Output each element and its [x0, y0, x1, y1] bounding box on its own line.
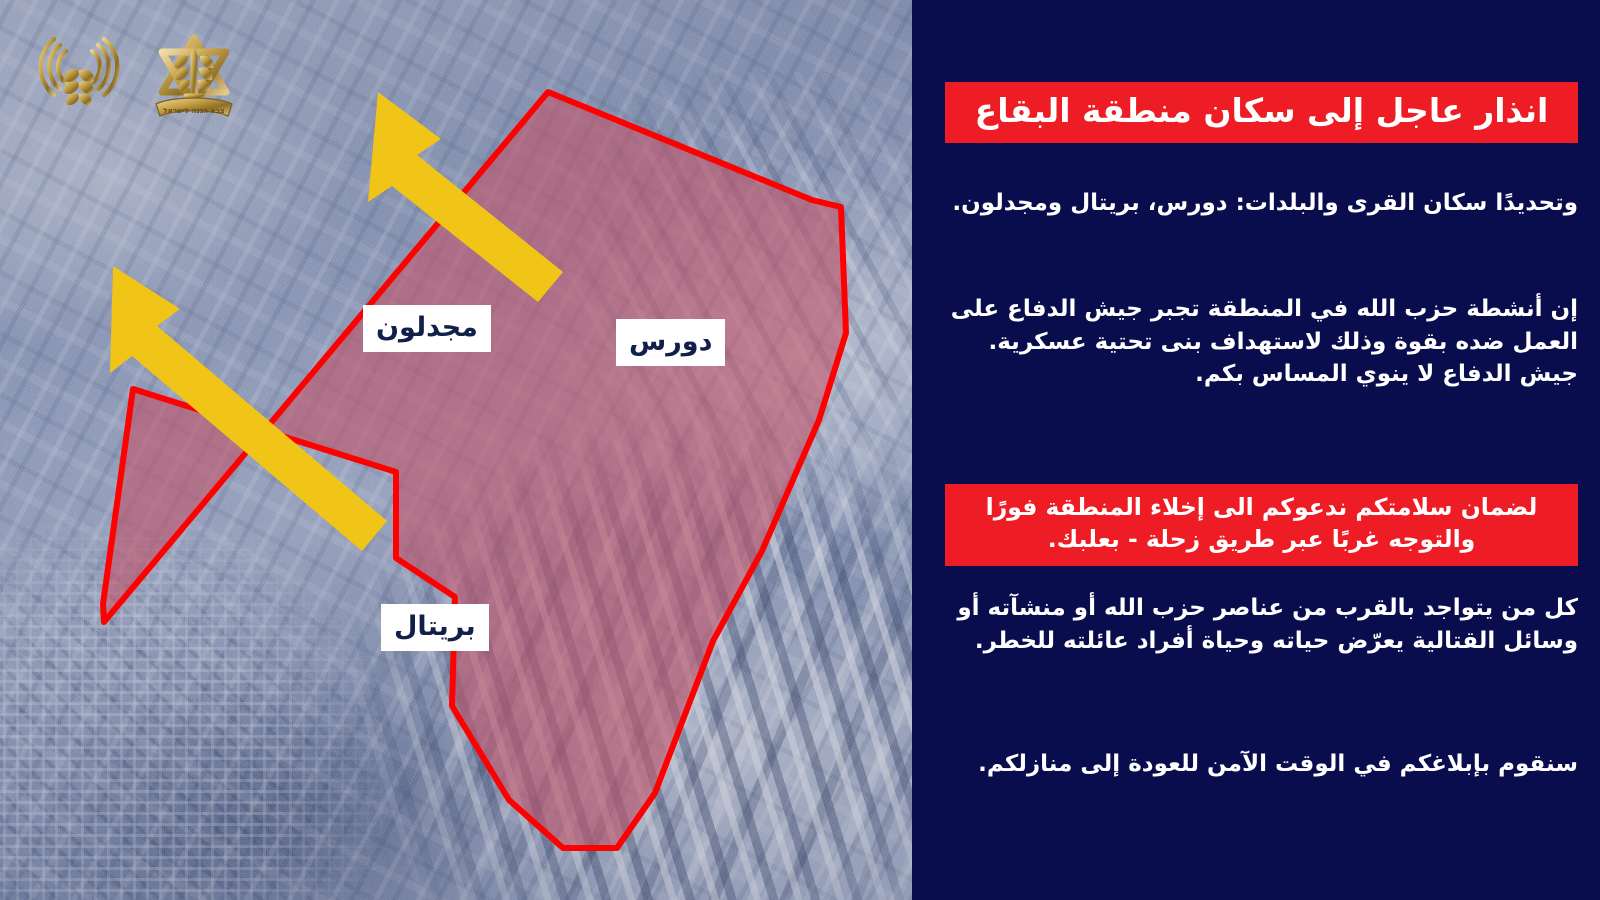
- idf-insignia-emblem: צבא הגנה לישראל: [148, 30, 240, 124]
- map-label-majdaloun: مجدلون: [363, 305, 491, 352]
- map-label-brital: بريتال: [381, 604, 489, 651]
- reason-paragraph: إن أنشطة حزب الله في المنطقة تجبر جيش ال…: [940, 293, 1578, 391]
- svg-text:צבא הגנה לישראל: צבא הגנה לישראל: [163, 106, 225, 115]
- affected-towns-paragraph: وتحديدًا سكان القرى والبلدات: دورس، بريت…: [940, 187, 1578, 220]
- idf-spokesperson-unit-emblem: [36, 31, 122, 123]
- warning-text-panel: انذار عاجل إلى سكان منطقة البقاع وتحديدً…: [912, 0, 1600, 900]
- emblem-group: צבא הגנה לישראל: [36, 30, 240, 124]
- evacuation-warning-graphic: צבא הגנה לישראל مجدلون دورس بريتال: [0, 0, 1600, 900]
- map-label-douris: دورس: [616, 319, 725, 366]
- warning-headline: انذار عاجل إلى سكان منطقة البقاع: [945, 82, 1578, 143]
- safe-return-paragraph: سنقوم بإبلاغكم في الوقت الآمن للعودة إلى…: [940, 748, 1578, 781]
- satellite-map-panel: צבא הגנה לישראל مجدلون دورس بريتال: [0, 0, 912, 900]
- danger-proximity-paragraph: كل من يتواجد بالقرب من عناصر حزب الله أو…: [940, 592, 1578, 657]
- evacuation-instruction-banner: لضمان سلامتكم ندعوكم الى إخلاء المنطقة ف…: [945, 484, 1578, 566]
- map-overlay: [0, 0, 912, 900]
